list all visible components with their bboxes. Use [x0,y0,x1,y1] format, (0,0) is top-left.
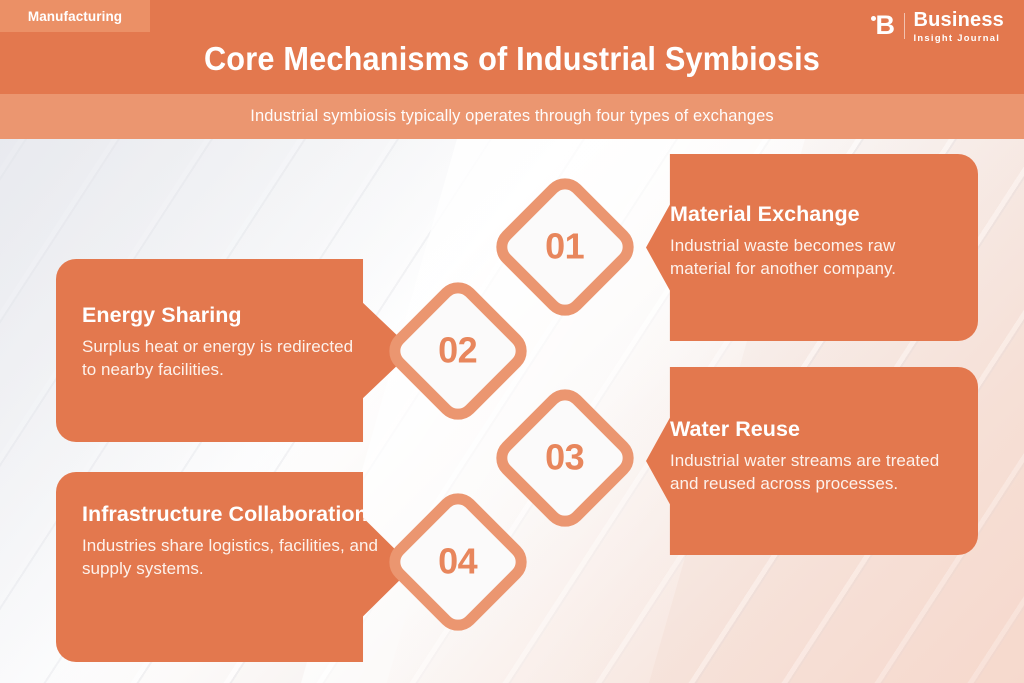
step-card-02[interactable]: Energy Sharing Surplus heat or energy is… [56,259,413,442]
step-badge-01[interactable]: 01 [487,169,643,325]
logo-tagline: Insight Journal [913,33,1004,42]
step-badge-03-number: 03 [545,440,584,476]
step-card-01-description: Industrial waste becomes raw material fo… [670,234,940,280]
step-card-04[interactable]: Infrastructure Collaboration Industries … [56,472,413,662]
step-card-04-content: Infrastructure Collaboration Industries … [82,502,382,581]
step-badge-03[interactable]: 03 [487,380,643,536]
step-card-01[interactable]: Material Exchange Industrial waste becom… [646,154,978,341]
category-tag-label: Manufacturing [28,9,122,24]
step-card-04-description: Industries share logistics, facilities, … [82,534,382,580]
logo-b-icon: B [870,11,896,41]
subtitle-text: Industrial symbiosis typically operates … [250,107,773,126]
step-card-01-title: Material Exchange [670,202,940,227]
diagram-stage: Material Exchange Industrial waste becom… [0,139,1024,683]
step-badge-04-number: 04 [438,544,477,580]
infographic-page: Manufacturing Core Mechanisms of Industr… [0,0,1024,683]
step-card-02-content: Energy Sharing Surplus heat or energy is… [82,303,372,382]
logo-letter: B [875,12,895,39]
step-card-03-description: Industrial water streams are treated and… [670,449,960,495]
step-card-01-content: Material Exchange Industrial waste becom… [670,202,940,281]
step-badge-01-number: 01 [545,229,584,265]
step-card-02-description: Surplus heat or energy is redirected to … [82,335,372,381]
logo-divider [904,13,905,39]
step-badge-02[interactable]: 02 [380,273,536,429]
step-card-03-title: Water Reuse [670,417,960,442]
step-card-02-title: Energy Sharing [82,303,372,328]
logo-name: Business [913,10,1004,30]
brand-logo: B Business Insight Journal [870,10,1004,42]
subtitle-band: Industrial symbiosis typically operates … [0,94,1024,139]
step-card-04-title: Infrastructure Collaboration [82,502,382,527]
step-card-03[interactable]: Water Reuse Industrial water streams are… [646,367,978,555]
header-bar: Manufacturing Core Mechanisms of Industr… [0,0,1024,94]
category-tag: Manufacturing [0,0,150,32]
logo-wordmark: Business Insight Journal [913,10,1004,42]
step-badge-04[interactable]: 04 [380,484,536,640]
step-card-03-content: Water Reuse Industrial water streams are… [670,417,960,496]
page-title: Core Mechanisms of Industrial Symbiosis [36,40,988,78]
step-badge-02-number: 02 [438,333,477,369]
